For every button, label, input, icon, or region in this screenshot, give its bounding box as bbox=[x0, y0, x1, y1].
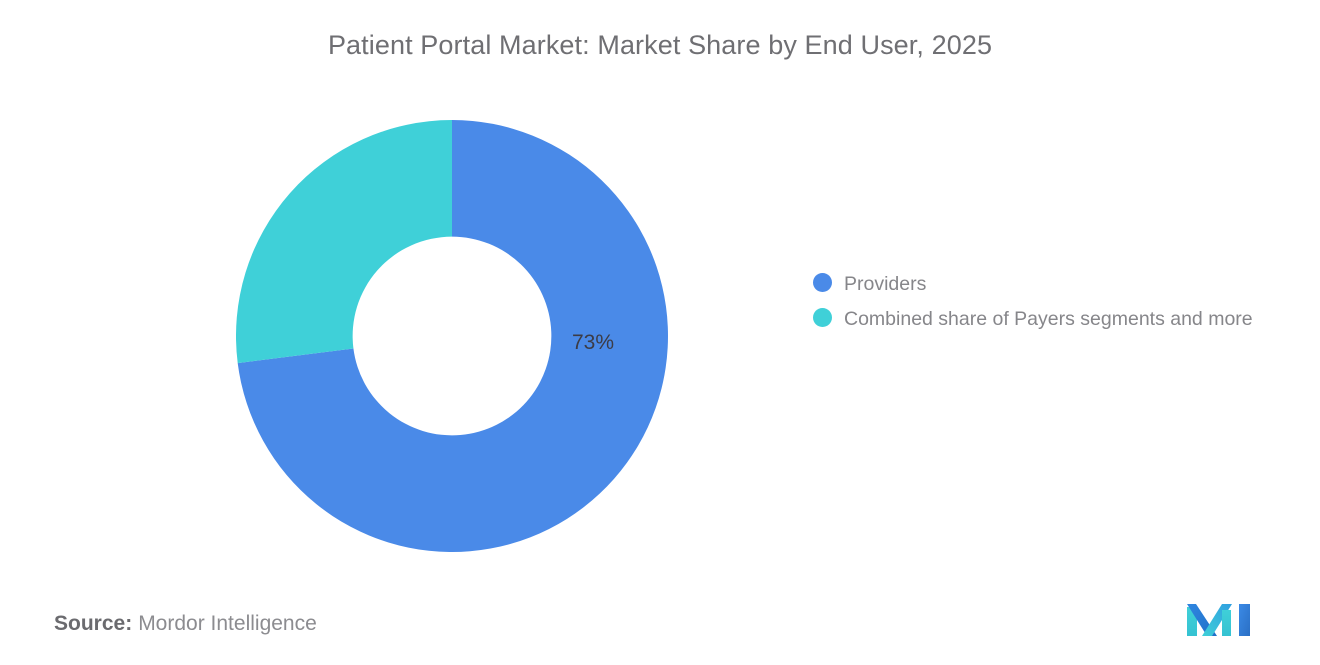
page-title: Patient Portal Market: Market Share by E… bbox=[0, 30, 1320, 61]
chart-canvas: Patient Portal Market: Market Share by E… bbox=[0, 0, 1320, 665]
legend-swatch-payers bbox=[813, 308, 832, 327]
donut-chart: 73% bbox=[236, 120, 668, 552]
chart-legend: Providers Combined share of Payers segme… bbox=[813, 270, 1273, 340]
source-attribution: Source:Mordor Intelligence bbox=[54, 612, 317, 636]
donut-slice-payers[interactable] bbox=[236, 120, 452, 363]
legend-label-payers: Combined share of Payers segments and mo… bbox=[844, 305, 1253, 333]
legend-label-providers: Providers bbox=[844, 270, 926, 298]
source-value: Mordor Intelligence bbox=[138, 612, 317, 635]
legend-swatch-providers bbox=[813, 273, 832, 292]
legend-item-payers[interactable]: Combined share of Payers segments and mo… bbox=[813, 305, 1273, 333]
donut-svg bbox=[236, 120, 668, 552]
source-label: Source: bbox=[54, 612, 132, 635]
legend-item-providers[interactable]: Providers bbox=[813, 270, 1273, 298]
mordor-intelligence-logo-icon bbox=[1186, 598, 1252, 640]
